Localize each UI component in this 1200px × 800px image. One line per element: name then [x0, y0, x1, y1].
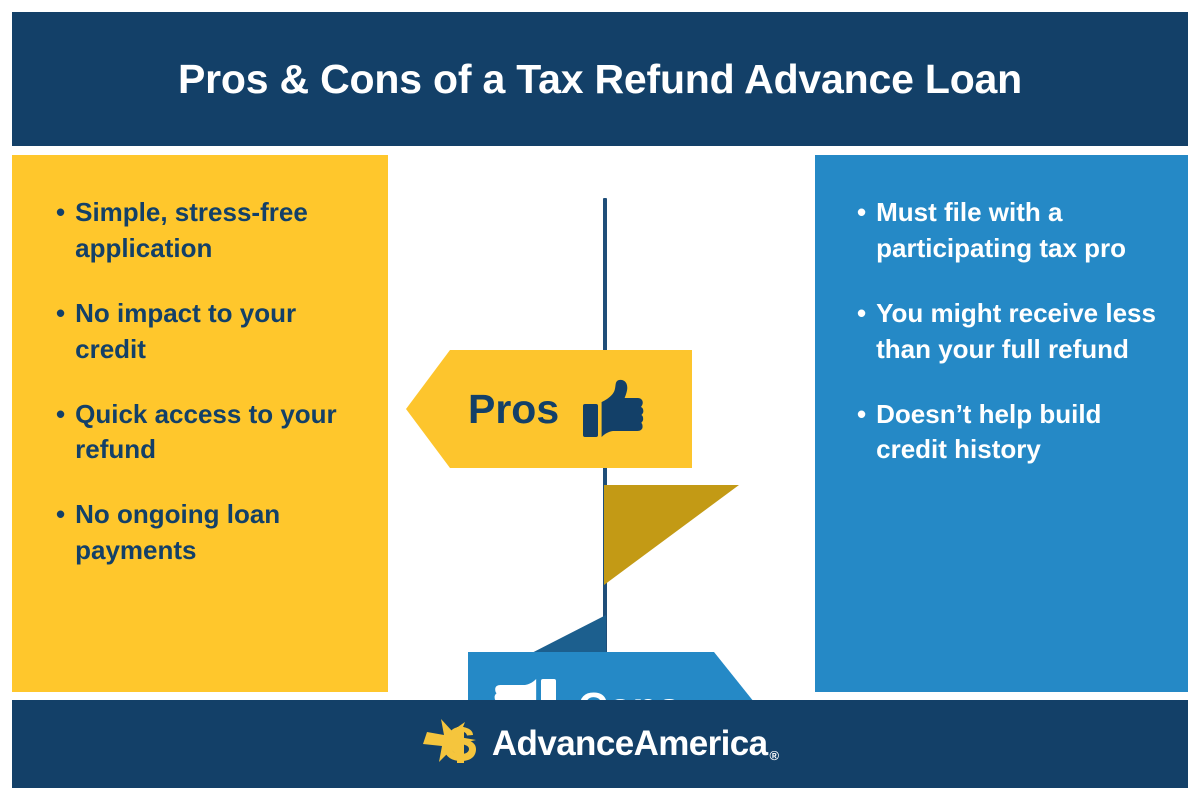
list-item-label: Simple, stress-free application — [75, 195, 366, 267]
pros-sign-shadow — [604, 485, 739, 585]
list-item: • Doesn’t help build credit history — [857, 397, 1166, 469]
cons-bullet-list: • Must file with a participating tax pro… — [815, 195, 1188, 468]
pros-bullet-list: • Simple, stress-free application • No i… — [12, 195, 388, 569]
list-item: • Must file with a participating tax pro — [857, 195, 1166, 267]
list-item: • You might receive less than your full … — [857, 296, 1166, 368]
bullet-icon: • — [857, 195, 866, 231]
bullet-icon: • — [56, 397, 65, 433]
list-item-label: No impact to your credit — [75, 296, 366, 368]
list-item-label: Doesn’t help build credit history — [876, 397, 1166, 469]
list-item-label: You might receive less than your full re… — [876, 296, 1166, 368]
list-item: • No impact to your credit — [56, 296, 366, 368]
infographic-root: Pros & Cons of a Tax Refund Advance Loan… — [0, 0, 1200, 800]
brand-logo: AdvanceAmerica ® — [421, 718, 779, 770]
pros-panel: • Simple, stress-free application • No i… — [12, 155, 388, 692]
list-item: • Simple, stress-free application — [56, 195, 366, 267]
pros-sign: Pros — [406, 350, 692, 468]
list-item: • Quick access to your refund — [56, 397, 366, 469]
bullet-icon: • — [56, 497, 65, 533]
list-item-label: Must file with a participating tax pro — [876, 195, 1166, 267]
signpost-graphic: Pros Cons — [388, 155, 815, 692]
registered-trademark-icon: ® — [770, 748, 780, 770]
star-dollar-logo-icon — [421, 718, 483, 770]
footer-bar: AdvanceAmerica ® — [12, 700, 1188, 788]
page-title: Pros & Cons of a Tax Refund Advance Loan — [178, 56, 1022, 103]
bullet-icon: • — [56, 296, 65, 332]
list-item-label: Quick access to your refund — [75, 397, 366, 469]
cons-panel: • Must file with a participating tax pro… — [815, 155, 1188, 692]
bullet-icon: • — [56, 195, 65, 231]
pros-sign-label: Pros — [468, 386, 559, 433]
list-item-label: No ongoing loan payments — [75, 497, 366, 569]
brand-name: AdvanceAmerica — [492, 724, 768, 764]
thumbs-up-icon — [583, 379, 645, 439]
bullet-icon: • — [857, 296, 866, 332]
bullet-icon: • — [857, 397, 866, 433]
list-item: • No ongoing loan payments — [56, 497, 366, 569]
header-bar: Pros & Cons of a Tax Refund Advance Loan — [12, 12, 1188, 146]
